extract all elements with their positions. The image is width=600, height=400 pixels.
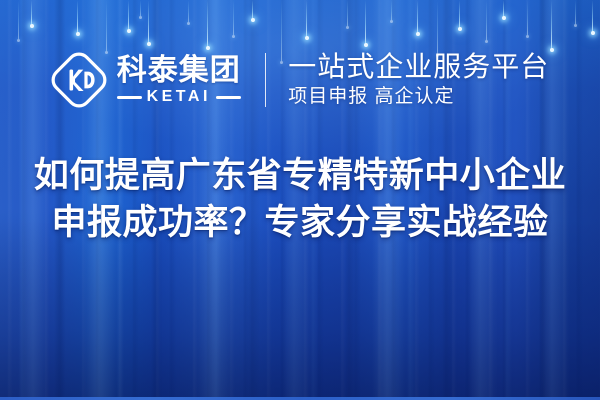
- promo-banner: 科泰集团 KETAI 一站式企业服务平台 项目申报 高企认定 如何提高广东省专精…: [0, 0, 600, 400]
- tagline-secondary: 项目申报 高企认定: [288, 86, 549, 109]
- logo-english-row: KETAI: [117, 89, 241, 105]
- logo-rule-left: [117, 96, 142, 99]
- ketai-diamond-kd-monogram-icon: [51, 52, 107, 108]
- tagline-primary: 一站式企业服务平台: [288, 51, 549, 82]
- headline-line-1: 如何提高广东省专精特新中小企业: [0, 152, 600, 199]
- logo-chinese-name: 科泰集团: [117, 55, 241, 87]
- logo-rule-right: [216, 96, 241, 99]
- logo-english-name: KETAI: [147, 89, 211, 105]
- company-logo[interactable]: 科泰集团 KETAI: [51, 52, 241, 108]
- headline-line-2: 申报成功率？专家分享实战经验: [0, 199, 600, 246]
- headline-block: 如何提高广东省专精特新中小企业 申报成功率？专家分享实战经验: [0, 152, 600, 247]
- header-divider: [265, 53, 267, 107]
- logo-wordmark: 科泰集团 KETAI: [117, 55, 241, 106]
- tagline-block: 一站式企业服务平台 项目申报 高企认定: [288, 51, 549, 109]
- brand-header: 科泰集团 KETAI 一站式企业服务平台 项目申报 高企认定: [0, 44, 600, 116]
